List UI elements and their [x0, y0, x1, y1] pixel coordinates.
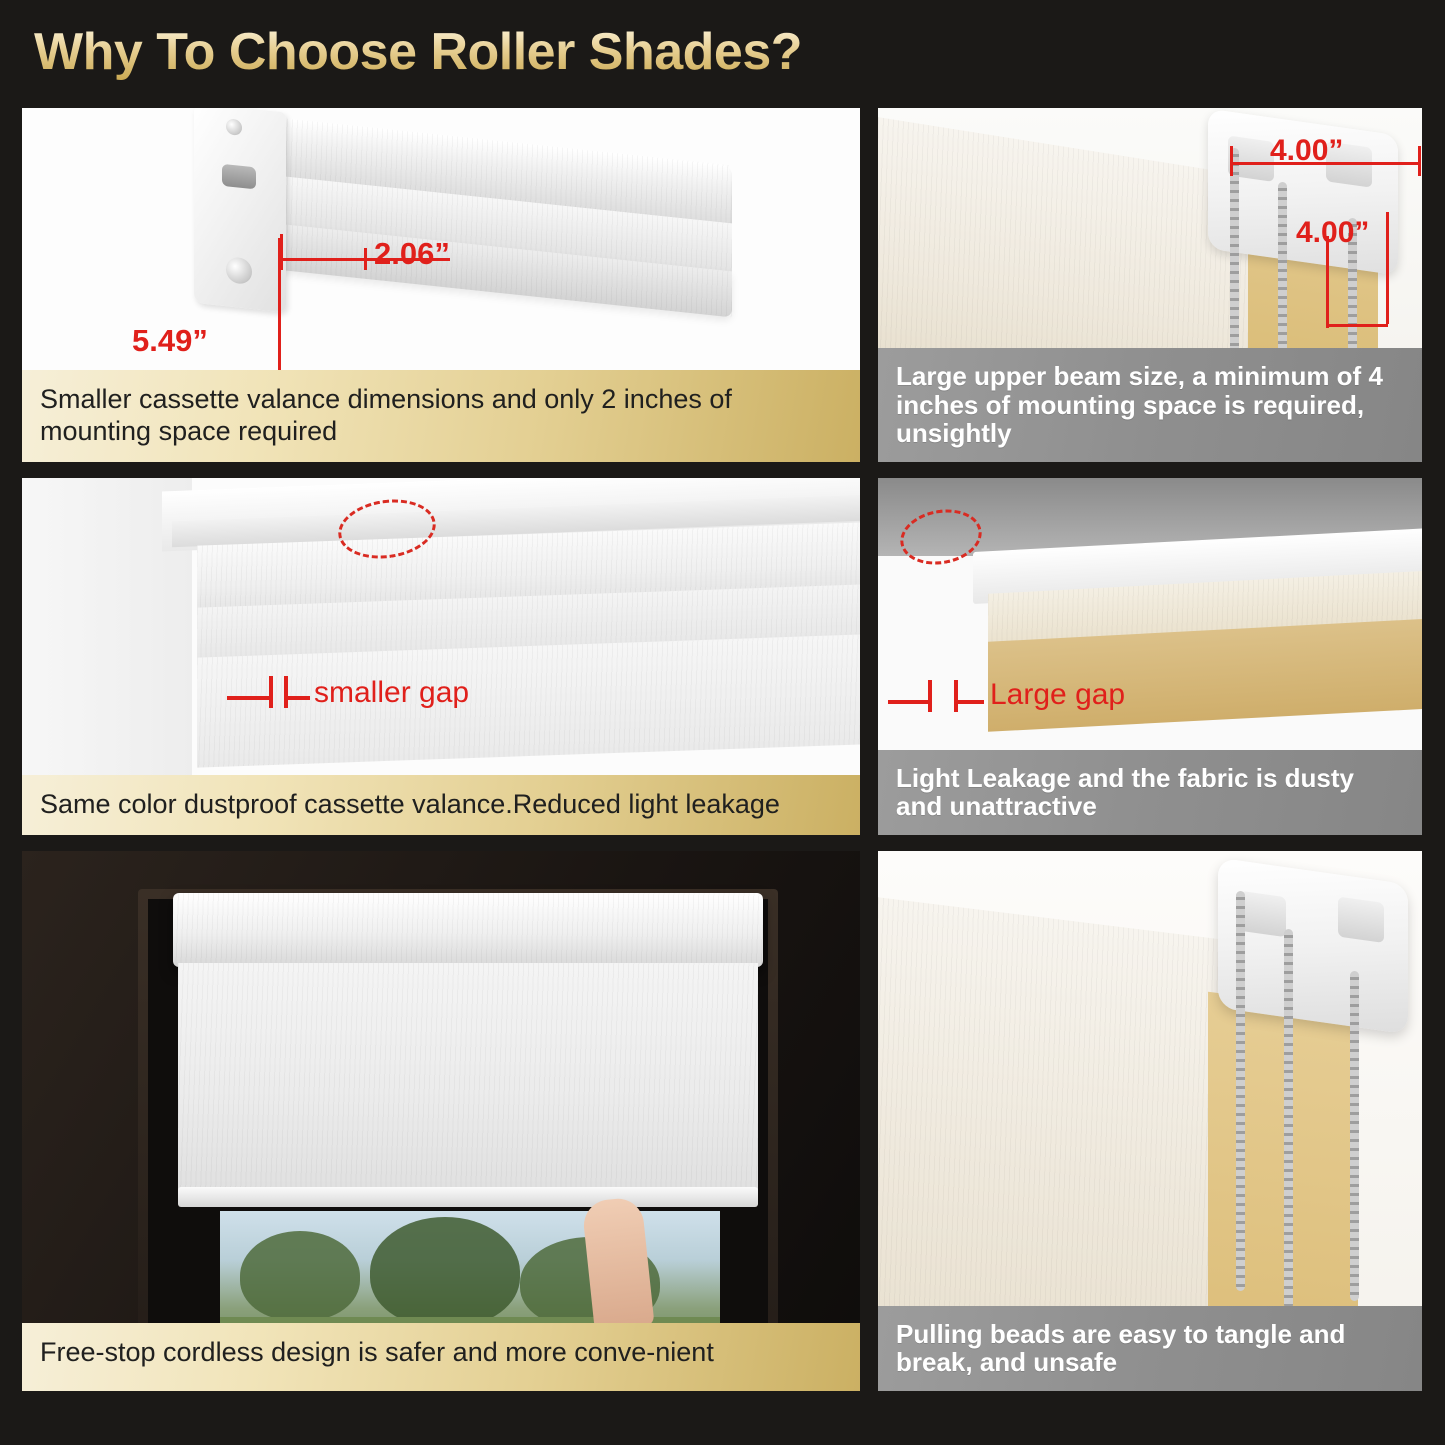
height-dimension-label: 5.49”	[132, 323, 208, 359]
bottom-rail	[178, 1187, 758, 1207]
card-light-leakage: Large gap Light Leakage and the fabric i…	[878, 478, 1422, 835]
caption-pulling-beads: Pulling beads are easy to tangle and bre…	[878, 1306, 1422, 1391]
bead-chain-3	[1350, 971, 1359, 1301]
cassette-head	[173, 893, 763, 967]
valance-illustration	[172, 108, 732, 395]
caption-dustproof-valance: Same color dustproof cassette valance.Re…	[22, 775, 860, 835]
window-frame	[138, 889, 778, 1351]
card-cassette-valance-dimensions: 2.06” 5.49” Smaller cassette valance dim…	[22, 108, 860, 462]
card-free-stop-cordless: Free-stop cordless design is safer and m…	[22, 851, 860, 1391]
comparison-grid: 2.06” 5.49” Smaller cassette valance dim…	[22, 108, 1422, 1407]
large-gap-label: Large gap	[990, 678, 1125, 712]
beam-width-label: 4.00”	[1270, 134, 1343, 168]
smaller-gap-label: smaller gap	[314, 676, 469, 710]
grid-row-1: 2.06” 5.49” Smaller cassette valance dim…	[22, 108, 1422, 462]
bead-chain-1	[1236, 891, 1245, 1291]
beam-depth-label: 4.00”	[1296, 216, 1369, 250]
bead-chain-left	[1230, 148, 1239, 378]
photo-cordless-room	[22, 851, 860, 1391]
bead-chain-2	[1284, 929, 1293, 1309]
grid-row-2: smaller gap Same color dustproof cassett…	[22, 478, 1422, 835]
caption-large-upper-beam: Large upper beam size, a minimum of 4 in…	[878, 348, 1422, 462]
roller-housing	[1218, 858, 1408, 1035]
page-title: Why To Choose Roller Shades?	[34, 22, 802, 82]
shade-fabric	[178, 963, 758, 1193]
card-pulling-beads: Pulling beads are easy to tangle and bre…	[878, 851, 1422, 1391]
caption-free-stop-cordless: Free-stop cordless design is safer and m…	[22, 1323, 860, 1391]
grid-row-3: Free-stop cordless design is safer and m…	[22, 851, 1422, 1391]
product-infographic: Why To Choose Roller Shades?	[0, 0, 1445, 1445]
caption-light-leakage: Light Leakage and the fabric is dusty an…	[878, 750, 1422, 835]
width-dimension-label: 2.06”	[374, 236, 450, 272]
caption-cassette-valance-dimensions: Smaller cassette valance dimensions and …	[22, 370, 860, 462]
card-large-upper-beam: 4.00” 4.00” Large upper beam size, a min…	[878, 108, 1422, 462]
card-dustproof-cassette-valance: smaller gap Same color dustproof cassett…	[22, 478, 860, 835]
